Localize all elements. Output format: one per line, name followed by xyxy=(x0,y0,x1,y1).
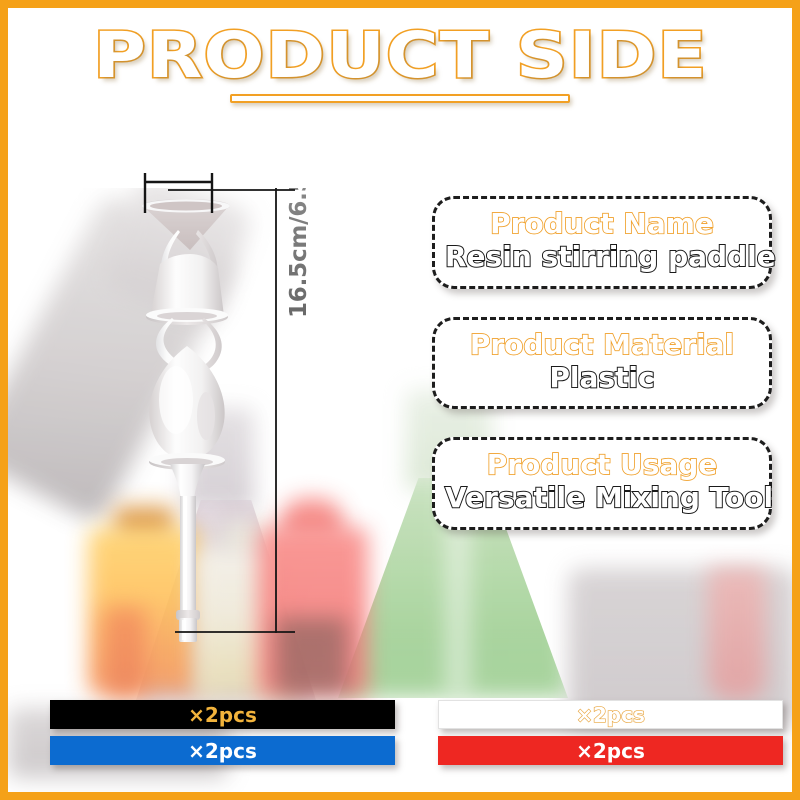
quantity-bar-white: ×2pcs xyxy=(438,700,783,729)
quantity-bar-group: ×2pcs ×2pcs ×2pcs ×2pcs xyxy=(0,0,800,800)
quantity-bar-red: ×2pcs xyxy=(438,736,783,765)
infographic-canvas: PRODUCT SIDE xyxy=(0,0,800,800)
quantity-bar-label: ×2pcs xyxy=(188,705,257,725)
quantity-bar-label: ×2pcs xyxy=(576,741,645,761)
quantity-bar-black: ×2pcs xyxy=(50,700,395,729)
quantity-bar-label: ×2pcs xyxy=(576,705,645,725)
quantity-bar-blue: ×2pcs xyxy=(50,736,395,765)
quantity-bar-label: ×2pcs xyxy=(188,741,257,761)
